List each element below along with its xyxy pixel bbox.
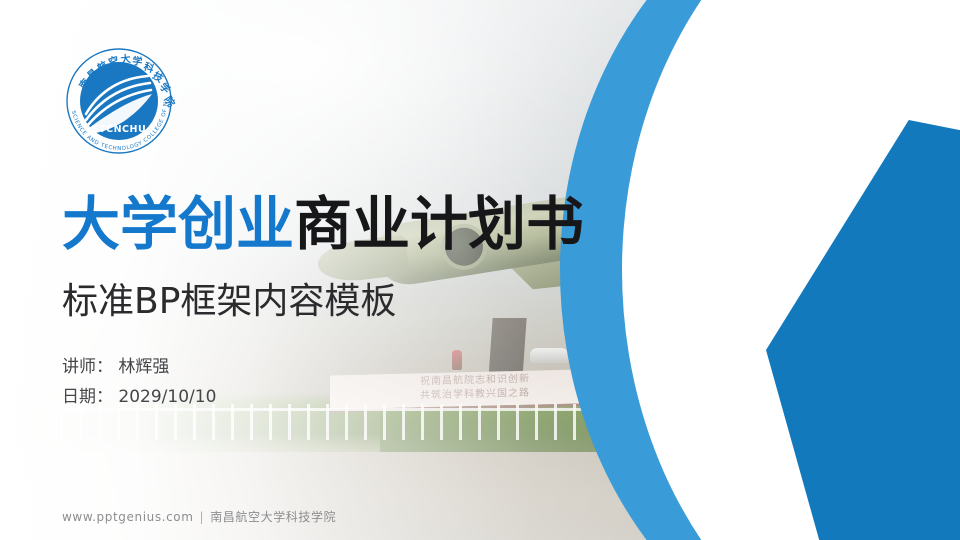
- slide-footer: www.pptgenius.com|南昌航空大学科技学院: [62, 508, 336, 525]
- logo-acronym: STCNCHU: [92, 124, 146, 135]
- university-logo: STCNCHU SCIENCE AND TECHNOLOGY COLLEGE O…: [60, 42, 178, 160]
- svg-text:大: 大: [120, 52, 131, 66]
- slide-meta: 讲师： 林辉强 日期： 2029/10/10: [62, 352, 216, 412]
- slide-subtitle: 标准BP框架内容模板: [62, 272, 396, 324]
- presentation-slide: 521009 祝南昌航院志和识创新 共筑治学科教兴国之路: [0, 0, 960, 540]
- meta-date: 日期： 2029/10/10: [62, 382, 216, 412]
- slide-title: 大学创业商业计划书: [62, 192, 584, 256]
- meta-presenter: 讲师： 林辉强: [62, 352, 216, 382]
- footer-website[interactable]: www.pptgenius.com: [62, 510, 194, 524]
- title-highlight: 大学创业: [62, 190, 294, 258]
- svg-text:学: 学: [132, 54, 144, 68]
- footer-organization: 南昌航空大学科技学院: [210, 510, 336, 524]
- footer-separator: |: [200, 510, 205, 524]
- title-rest: 商业计划书: [294, 190, 584, 258]
